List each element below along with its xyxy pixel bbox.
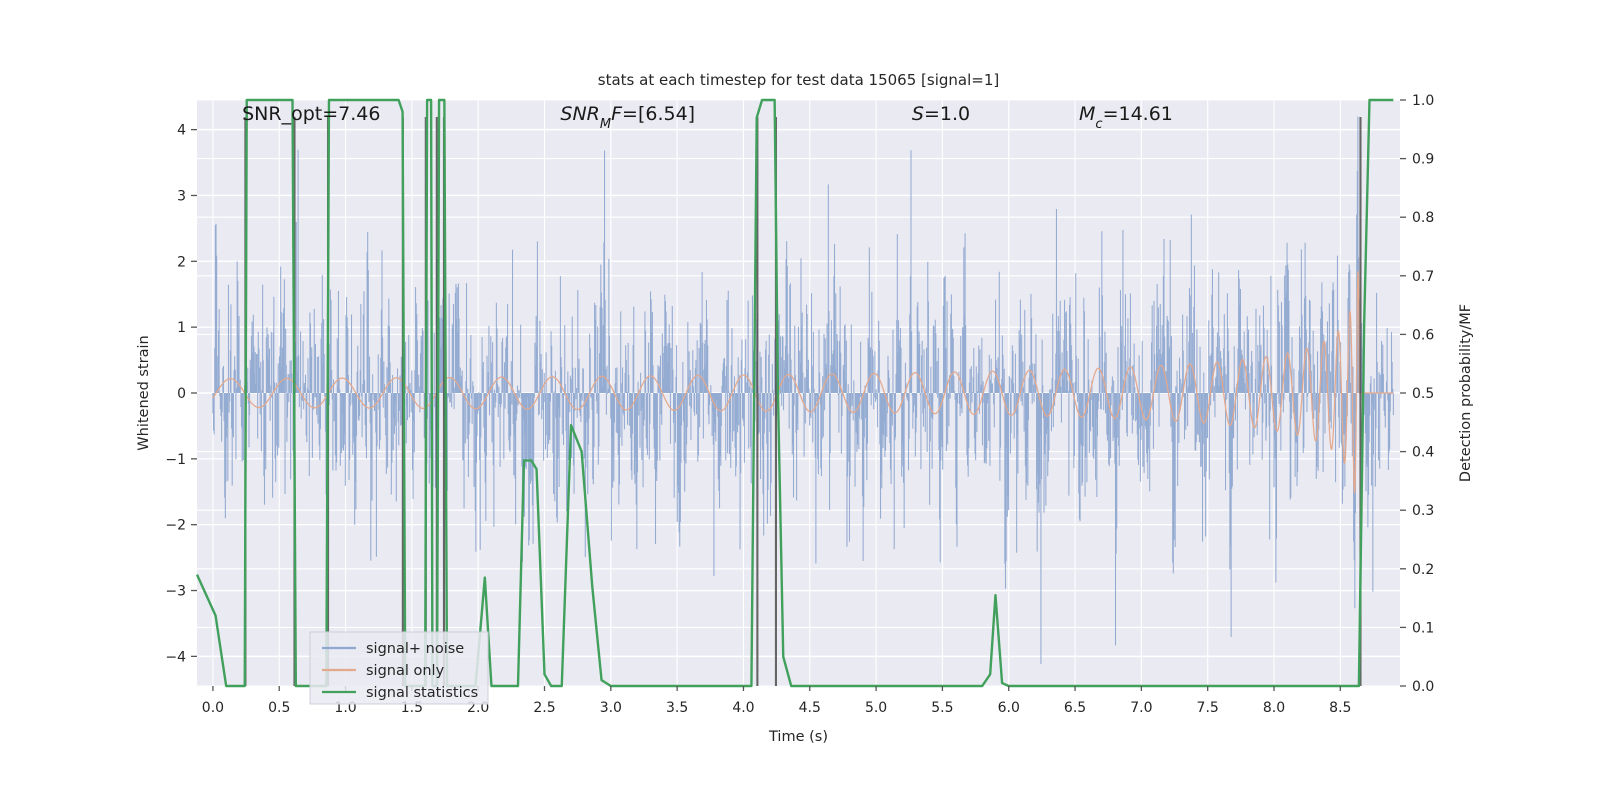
y-tick-label: −4 — [165, 649, 186, 665]
y2-tick-label: 0.5 — [1412, 386, 1434, 402]
y2-tick-label: 0.9 — [1412, 152, 1434, 168]
x-tick-label: 7.0 — [1130, 700, 1152, 716]
plot-svg: 0.00.51.01.52.02.53.03.54.04.55.05.56.06… — [0, 0, 1600, 800]
y2-tick-label: 0.7 — [1412, 269, 1434, 285]
y-tick-label: 4 — [177, 123, 186, 139]
y-tick-label: −2 — [165, 518, 186, 534]
annotation-s-value: S=1.0 — [912, 103, 970, 125]
y-tick-label: −1 — [165, 452, 186, 468]
page-title: stats at each timestep for test data 150… — [598, 71, 999, 89]
y-tick-label: 1 — [177, 320, 186, 336]
y2-tick-label: 0.0 — [1412, 679, 1434, 695]
x-tick-label: 3.5 — [666, 700, 688, 716]
x-tick-label: 8.0 — [1263, 700, 1285, 716]
x-tick-label: 0.5 — [268, 700, 290, 716]
y2-tick-label: 0.4 — [1412, 445, 1434, 461]
x-tick-label: 4.5 — [799, 700, 821, 716]
svg-text:S=1.0: S=1.0 — [912, 103, 970, 125]
y2-tick-label: 0.8 — [1412, 210, 1434, 226]
x-tick-label: 5.5 — [931, 700, 953, 716]
y2-tick-label: 0.3 — [1412, 503, 1434, 519]
x-tick-label: 6.5 — [1064, 700, 1086, 716]
y-tick-label: 2 — [177, 254, 186, 270]
y-axis-label: Whitened strain — [136, 335, 152, 450]
x-axis-label: Time (s) — [768, 729, 828, 745]
legend-box[interactable]: signal+ noisesignal onlysignal statistic… — [310, 632, 488, 704]
y2-axis-label: Detection probability/MF — [1458, 304, 1474, 482]
legend-label: signal+ noise — [366, 641, 464, 657]
x-tick-label: 8.5 — [1329, 700, 1351, 716]
x-tick-label: 2.5 — [533, 700, 555, 716]
legend-label: signal only — [366, 663, 445, 679]
annotation-snr-opt: SNR_opt=7.46 — [242, 103, 380, 125]
y2-tick-label: 1.0 — [1412, 93, 1434, 109]
y-tick-label: 0 — [177, 386, 186, 402]
y-tick-label: −3 — [165, 584, 186, 600]
figure-canvas: 0.00.51.01.52.02.53.03.54.04.55.05.56.06… — [0, 0, 1600, 800]
x-tick-label: 5.0 — [865, 700, 887, 716]
y2-tick-label: 0.1 — [1412, 620, 1434, 636]
legend-label: signal statistics — [366, 685, 478, 701]
y-tick-label: 3 — [177, 188, 186, 204]
y2-tick-label: 0.6 — [1412, 327, 1434, 343]
y2-tick-label: 0.2 — [1412, 562, 1434, 578]
x-tick-label: 0.0 — [202, 700, 224, 716]
x-tick-label: 7.5 — [1197, 700, 1219, 716]
x-tick-label: 3.0 — [600, 700, 622, 716]
svg-text:SNR_opt=7.46: SNR_opt=7.46 — [242, 103, 380, 125]
x-tick-label: 6.0 — [998, 700, 1020, 716]
x-tick-label: 4.0 — [732, 700, 754, 716]
